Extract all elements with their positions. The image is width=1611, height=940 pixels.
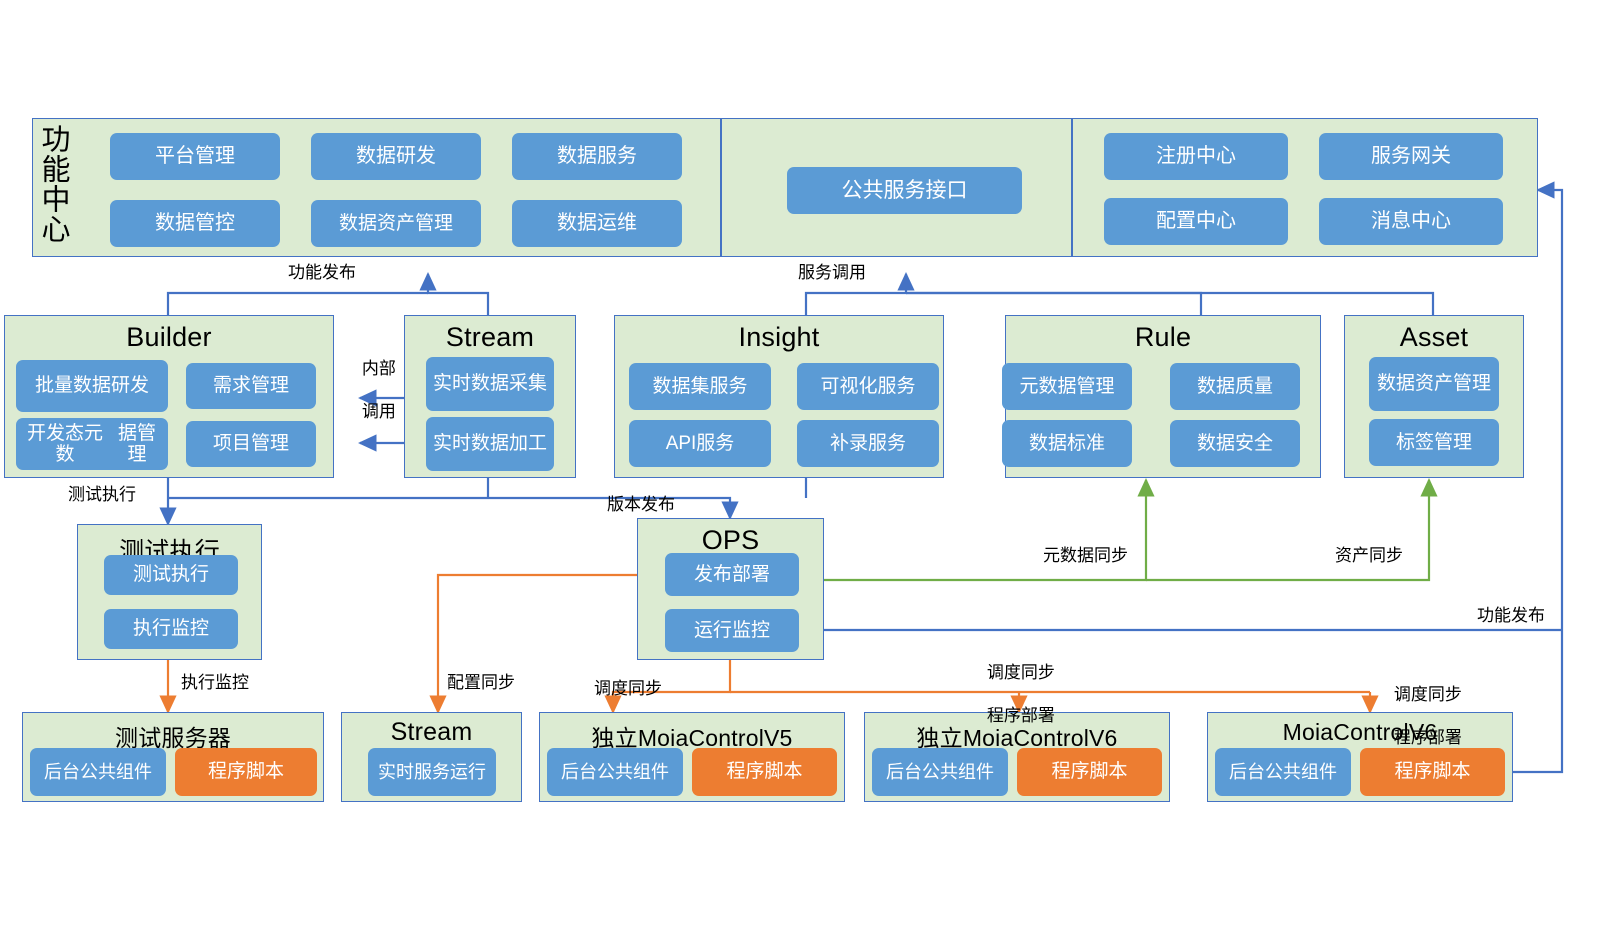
panel-title-stream: Stream	[405, 322, 575, 353]
chip-dev-meta-mgmt[interactable]: 开发态元数 据管理	[16, 418, 168, 470]
chip-line-2: 组件	[633, 762, 669, 782]
chip-run-monitor[interactable]: 运行监控	[665, 609, 799, 652]
chip-api-service[interactable]: API服务	[629, 420, 771, 467]
sched-deploy-line-2: 程序部署	[987, 706, 1055, 725]
edge-label-test-execute: 测试执行	[68, 484, 136, 505]
chip-platform-mgmt[interactable]: 平台管理	[110, 133, 280, 180]
sched-deploy-line-1: 调度同步	[987, 663, 1055, 682]
edge-label-schedule-sync-deploy-2: 调度同步 程序部署	[1375, 663, 1462, 769]
edge-label-internal-call: 内部 调用	[343, 337, 396, 443]
chip-viz-service[interactable]: 可视化服务	[797, 363, 939, 410]
edge-label-asset-sync: 资产同步	[1335, 545, 1403, 566]
edge-label-service-call: 服务调用	[798, 262, 866, 283]
panel-title-asset: Asset	[1345, 322, 1523, 353]
chip-meta-mgmt[interactable]: 元数据管理	[1002, 363, 1132, 410]
edge-label-exec-monitor: 执行监控	[181, 672, 249, 693]
chip-realtime-service-run[interactable]: 实时服务 运行	[368, 748, 496, 796]
chip-program-script-3[interactable]: 程序脚本	[1017, 748, 1162, 796]
function-center-label: 功能中心	[38, 124, 67, 244]
chip-line-2: 管理	[1453, 373, 1491, 394]
internal-call-line-2: 调用	[362, 402, 396, 421]
chip-data-security[interactable]: 数据安全	[1170, 420, 1300, 467]
edge-label-function-publish-top: 功能发布	[288, 262, 356, 283]
chip-line-1: 开发态元数	[20, 423, 110, 466]
chip-config-center[interactable]: 配置中心	[1104, 198, 1288, 245]
chip-supplement-service[interactable]: 补录服务	[797, 420, 939, 467]
chip-line-2: 组件	[116, 762, 152, 782]
edge-label-function-publish-right: 功能发布	[1477, 605, 1545, 626]
chip-project-mgmt[interactable]: 项目管理	[186, 421, 316, 467]
chip-dataset-service[interactable]: 数据集服务	[629, 363, 771, 410]
chip-data-standard[interactable]: 数据标准	[1002, 420, 1132, 467]
chip-line-1: 后台公共	[44, 762, 116, 782]
chip-test-exec[interactable]: 测试执行	[104, 555, 238, 595]
divider-2	[1071, 119, 1073, 256]
chip-data-ops[interactable]: 数据运维	[512, 200, 682, 247]
chip-program-script-1[interactable]: 程序脚本	[175, 748, 317, 796]
chip-exec-monitor[interactable]: 执行监控	[104, 609, 238, 649]
chip-backend-common-4[interactable]: 后台公共 组件	[1215, 748, 1351, 796]
chip-line-1: 批量数据	[35, 375, 111, 396]
chip-program-script-2[interactable]: 程序脚本	[692, 748, 837, 796]
chip-line-1: 实时数据	[433, 433, 509, 454]
chip-backend-common-3[interactable]: 后台公共 组件	[872, 748, 1008, 796]
chip-data-asset-mgmt[interactable]: 数据资产管理	[311, 200, 481, 247]
chip-backend-common-1[interactable]: 后台公共 组件	[30, 748, 166, 796]
sched-deploy2-line-2: 程序部署	[1394, 728, 1462, 747]
edge-label-config-sync: 配置同步	[447, 672, 515, 693]
panel-title-ops: OPS	[638, 525, 823, 556]
panel-title-stream-server: Stream	[342, 718, 521, 747]
divider-1	[720, 119, 722, 256]
chip-data-service[interactable]: 数据服务	[512, 133, 682, 180]
chip-line-2: 据管理	[110, 423, 164, 466]
chip-data-dev[interactable]: 数据研发	[311, 133, 481, 180]
architecture-diagram: 功能中心 平台管理 数据研发 数据服务 数据管控 数据资产管理 数据运维 公共服…	[0, 0, 1611, 940]
panel-title-insight: Insight	[615, 322, 943, 353]
chip-line-1: 数据资产	[1377, 373, 1453, 394]
chip-gateway[interactable]: 服务网关	[1319, 133, 1503, 180]
chip-line-1: 实时数据	[433, 373, 509, 394]
panel-title-rule: Rule	[1006, 322, 1320, 353]
chip-line-1: 后台公共	[886, 762, 958, 782]
edge-label-version-publish: 版本发布	[607, 494, 675, 515]
chip-release-deploy[interactable]: 发布部署	[665, 553, 799, 596]
chip-line-1: 后台公共	[561, 762, 633, 782]
edge-label-meta-sync: 元数据同步	[1043, 545, 1128, 566]
chip-requirement-mgmt[interactable]: 需求管理	[186, 363, 316, 409]
chip-batch-data-dev[interactable]: 批量数据 研发	[16, 360, 168, 412]
chip-public-api[interactable]: 公共服务接口	[787, 167, 1022, 214]
sched-deploy2-line-1: 调度同步	[1394, 685, 1462, 704]
edge-label-schedule-sync-deploy-1: 调度同步 程序部署	[968, 641, 1055, 747]
edge-label-schedule-sync: 调度同步	[594, 678, 662, 699]
chip-realtime-collect[interactable]: 实时数据 采集	[426, 357, 554, 411]
chip-line-1: 后台公共	[1229, 762, 1301, 782]
chip-line-1: 实时服务	[378, 762, 450, 782]
panel-title-builder: Builder	[5, 322, 333, 353]
chip-line-2: 加工	[509, 433, 547, 454]
chip-line-2: 采集	[509, 373, 547, 394]
chip-backend-common-2[interactable]: 后台公共 组件	[547, 748, 683, 796]
chip-line-2: 组件	[1301, 762, 1337, 782]
internal-call-line-1: 内部	[362, 359, 396, 378]
chip-registry[interactable]: 注册中心	[1104, 133, 1288, 180]
chip-asset-mgmt[interactable]: 数据资产 管理	[1369, 357, 1499, 411]
panel-title-moia-v6: MoiaControlV6	[1208, 719, 1512, 746]
chip-realtime-process[interactable]: 实时数据 加工	[426, 417, 554, 471]
chip-data-quality[interactable]: 数据质量	[1170, 363, 1300, 410]
chip-tag-mgmt[interactable]: 标签管理	[1369, 419, 1499, 466]
chip-line-2: 运行	[450, 762, 486, 782]
chip-line-2: 组件	[958, 762, 994, 782]
chip-line-2: 研发	[111, 375, 149, 396]
chip-message-center[interactable]: 消息中心	[1319, 198, 1503, 245]
chip-data-control[interactable]: 数据管控	[110, 200, 280, 247]
